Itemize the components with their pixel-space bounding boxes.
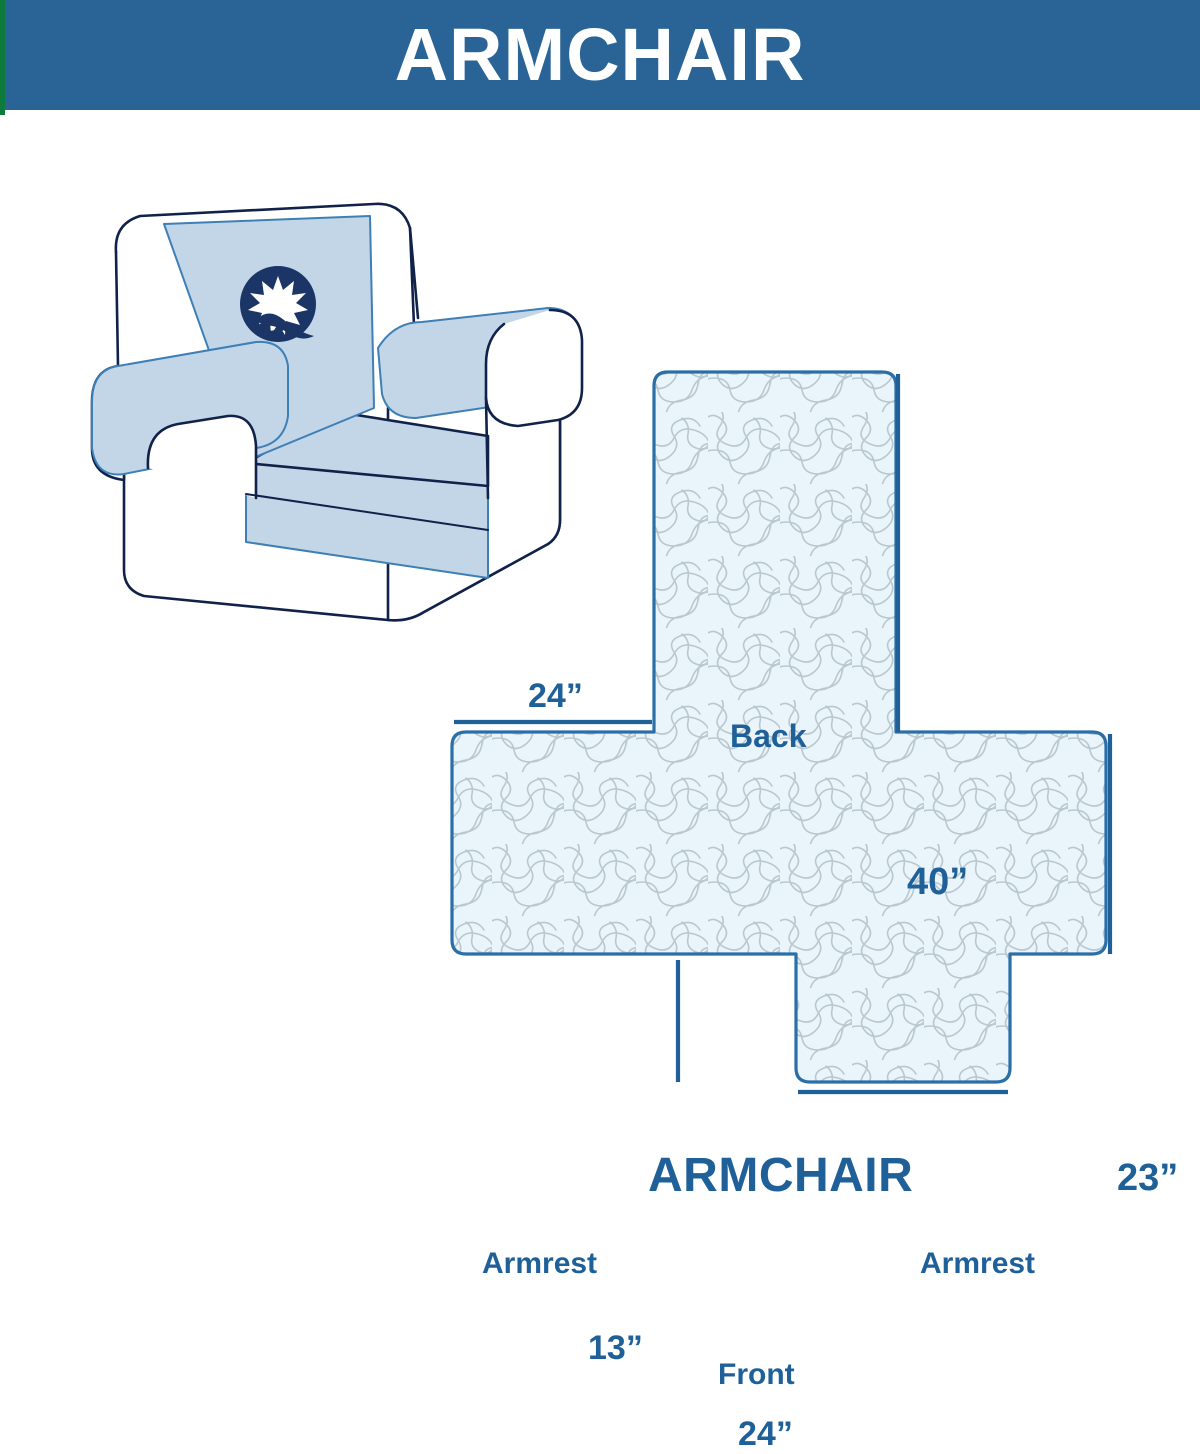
chair-backrest-left-edge xyxy=(116,252,118,366)
header-banner: ARMCHAIR xyxy=(0,0,1200,110)
dimension-label-front-height: 13” xyxy=(588,1329,643,1368)
dimension-label-top-width: 24” xyxy=(528,677,583,716)
starburst-q-logo xyxy=(240,266,316,342)
diagram-title: ARMCHAIR xyxy=(648,1148,913,1203)
panel-label-front: Front xyxy=(718,1358,795,1392)
panel-label-armrest-right: Armrest xyxy=(920,1247,1035,1281)
slipcover-pattern-diagram: Back ARMCHAIR Armrest Armrest Front 40” … xyxy=(420,340,1180,1140)
armchair-dimension-page: ARMCHAIR xyxy=(0,0,1200,1200)
dimension-label-side-height: 23” xyxy=(1117,1157,1178,1200)
panel-label-back: Back xyxy=(730,718,807,755)
dimension-label-back-height: 40” xyxy=(907,861,968,904)
page-title: ARMCHAIR xyxy=(395,18,806,92)
header-accent-stripe xyxy=(0,0,5,115)
dimension-label-bottom-width: 24” xyxy=(738,1415,793,1454)
panel-label-armrest-left: Armrest xyxy=(482,1247,597,1281)
